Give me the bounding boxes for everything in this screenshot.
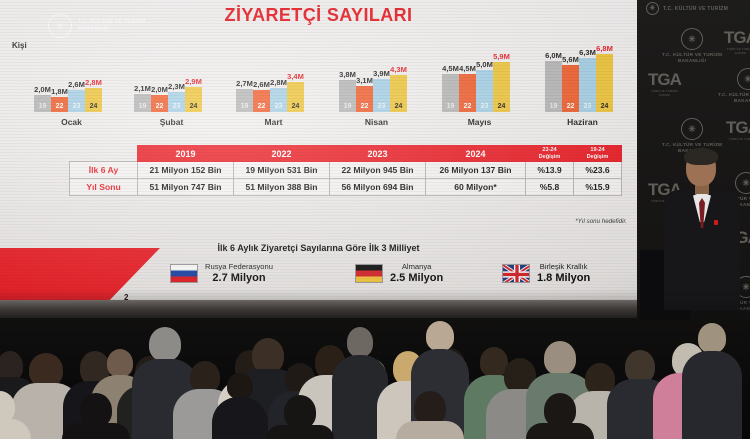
united-kingdom-flag-icon — [502, 264, 530, 283]
bar-value-label: 4,5M — [442, 64, 459, 73]
backdrop-ministry-line2: BAKANLIĞI — [662, 58, 722, 64]
bar-mart-22: 2,6M 22 — [253, 90, 270, 112]
bar-subat-19: 2,1M 19 — [134, 94, 151, 112]
tga-sub2: AJANSI — [648, 94, 681, 98]
cell-change-23-24: %5.8 — [526, 179, 574, 196]
tga-wordmark: TGA — [648, 70, 681, 90]
cell-2023: 56 Milyon 694 Bin — [330, 179, 426, 196]
tga-wordmark: TGA — [726, 118, 750, 138]
backdrop-ministry-line1: T.C. KÜLTÜR VE TURİZM — [662, 52, 722, 58]
nationality-name: Birleşik Krallık — [537, 262, 590, 271]
bar-group-haziran: 6,0M 19 5,6M 22 6,3M 23 — [545, 52, 620, 112]
table-footnote: *Yıl sonu hedefidir. — [227, 218, 627, 225]
bar-value-label: 1,8M — [51, 87, 68, 96]
bar-year-label: 24 — [185, 102, 202, 112]
bar-ocak-22: 1,8M 22 — [51, 97, 68, 112]
ministry-seal-icon: ✳ — [646, 2, 659, 15]
nationality-name: Almanya — [390, 262, 443, 271]
cell-2019: 21 Milyon 152 Bin — [138, 162, 234, 179]
bar-mart-19: 2,7M 19 — [236, 89, 253, 112]
bar-year-label: 22 — [51, 102, 68, 112]
bar-value-label: 6,0M — [545, 51, 562, 60]
bar-value-label: 2,7M — [236, 79, 253, 88]
bar-year-label: 23 — [168, 102, 185, 112]
slide-ministry-logo: ✳ T.C. KÜLTÜR VE TURİZM BAKANLIĞI — [48, 14, 146, 38]
speaker-lapel-pin — [714, 220, 718, 225]
bar-year-label: 24 — [287, 102, 304, 112]
bar-year-label: 19 — [545, 102, 562, 112]
ministry-seal-icon: ✳ — [681, 28, 703, 50]
table-col-2019: 2019 — [138, 146, 234, 162]
nationality-name: Rusya Federasyonu — [205, 262, 273, 271]
bar-year-label: 23 — [270, 102, 287, 112]
backdrop-ministry-line2: BAKANLIĞI — [718, 98, 750, 104]
bar-year-label: 19 — [34, 102, 51, 112]
table-col-change-23-24: 23-24 Değişim — [526, 146, 574, 162]
bar-value-label: 2,0M — [34, 85, 51, 94]
bar-nisan-22: 3,1M 22 — [356, 86, 373, 112]
bar-value-label: 2,3M — [168, 82, 185, 91]
bar-nisan-24: 4,3M 24 — [390, 75, 407, 112]
bar-year-label: 22 — [253, 102, 270, 112]
bar-value-label: 3,4M — [287, 72, 304, 81]
bar-value-label: 4,3M — [390, 65, 407, 74]
nationality-value: 1.8 Milyon — [537, 272, 590, 284]
bar-value-label: 2,8M — [270, 78, 287, 87]
bar-value-label: 3,8M — [339, 70, 356, 79]
bar-year-label: 19 — [134, 102, 151, 112]
bar-group-month-label: Ocak — [34, 117, 109, 127]
projection-screen: ZİYARETÇİ SAYILARI Kişi 2,0M 19 1,8M 22 — [0, 0, 637, 318]
table-row: İlk 6 Ay 21 Milyon 152 Bin 19 Milyon 531… — [70, 162, 622, 179]
change-23-24-line1: 23-24 — [542, 147, 556, 153]
bar-subat-22: 2,0M 22 — [151, 95, 168, 112]
table-header-row: 2019 2022 2023 2024 23-24 Değişim 19-24 … — [70, 146, 622, 162]
bar-year-label: 23 — [579, 102, 596, 112]
backdrop-ministry-line1: T.C. KÜLTÜR VE TURİZM — [662, 142, 722, 148]
bar-year-label: 24 — [390, 102, 407, 112]
backdrop-ministry-line1: T.C. KÜLTÜR VE TURİZM — [718, 92, 750, 98]
bar-group-mart: 2,7M 19 2,6M 22 2,8M 23 — [236, 52, 311, 112]
bar-year-label: 22 — [151, 102, 168, 112]
backdrop-tga-logo: TGA TÜRKİYE TURİZM AJANSI — [648, 70, 681, 98]
bar-year-label: 19 — [236, 102, 253, 112]
tga-wordmark: TGA — [724, 28, 750, 48]
visitor-bar-chart: 2,0M 19 1,8M 22 2,6M 23 — [8, 52, 632, 130]
bar-mayis-23: 5,0M 23 — [476, 70, 493, 112]
audience-area — [0, 289, 750, 439]
bar-nisan-23: 3,9M 23 — [373, 79, 390, 112]
bar-value-label: 3,9M — [373, 69, 390, 78]
bar-mart-23: 2,8M 23 — [270, 88, 287, 112]
cell-2023: 22 Milyon 945 Bin — [330, 162, 426, 179]
bar-value-label: 3,1M — [356, 76, 373, 85]
bar-value-label: 2,6M — [253, 80, 270, 89]
ministry-seal-icon: ✳ — [737, 68, 750, 90]
bar-group-month-label: Haziran — [545, 117, 620, 127]
bar-ocak-23: 2,6M 23 — [68, 90, 85, 112]
nationality-value: 2.5 Milyon — [390, 272, 443, 284]
bar-nisan-19: 3,8M 19 — [339, 80, 356, 112]
bar-haziran-23: 6,3M 23 — [579, 58, 596, 112]
bar-value-label: 4,5M — [459, 64, 476, 73]
change-19-24-line1: 19-24 — [590, 147, 604, 153]
bar-year-label: 19 — [442, 102, 459, 112]
backdrop-tga-logo: TGA TÜRKİYE TURİZM AJANSI — [724, 28, 750, 56]
germany-flag-icon — [355, 264, 383, 283]
bar-mart-24: 3,4M 24 — [287, 82, 304, 112]
table-col-2022: 2022 — [234, 146, 330, 162]
cell-change-23-24: %13.9 — [526, 162, 574, 179]
backdrop-ministry-logo: ✳ T.C. KÜLTÜR VE TURİZM BAKANLIĞI — [662, 28, 722, 64]
bar-group-month-label: Mart — [236, 117, 311, 127]
bar-value-label: 5,9M — [493, 52, 510, 61]
bar-year-label: 24 — [596, 102, 613, 112]
table-row-label-ilk6ay: İlk 6 Ay — [70, 162, 138, 179]
bar-group-month-label: Mayıs — [442, 117, 517, 127]
slide-ministry-line1: T.C. KÜLTÜR VE TURİZM — [78, 19, 146, 26]
tga-sub1: TÜRKİYE TURİZM — [726, 138, 750, 142]
bar-group-subat: 2,1M 19 2,0M 22 2,3M 23 — [134, 52, 209, 112]
cell-2022: 19 Milyon 531 Bin — [234, 162, 330, 179]
change-23-24-line2: Değişim — [539, 154, 561, 160]
tga-sub2: AJANSI — [724, 52, 750, 56]
ministry-seal-icon: ✳ — [48, 14, 72, 38]
bar-value-label: 2,9M — [185, 77, 202, 86]
bar-year-label: 19 — [339, 102, 356, 112]
bar-mayis-22: 4,5M 22 — [459, 74, 476, 112]
bar-value-label: 2,8M — [85, 78, 102, 87]
bar-year-label: 24 — [85, 102, 102, 112]
cell-2024: 26 Milyon 137 Bin — [426, 162, 526, 179]
bar-value-label: 6,8M — [596, 44, 613, 53]
bar-haziran-24: 6,8M 24 — [596, 54, 613, 112]
press-conference-photo: ✳ T.C. KÜLTÜR VE TURİZM ✳ T.C. KÜLTÜR VE… — [0, 0, 750, 439]
bar-year-label: 23 — [68, 102, 85, 112]
speaker-hair — [684, 148, 718, 165]
table-col-change-19-24: 19-24 Değişim — [574, 146, 622, 162]
bar-value-label: 5,6M — [562, 55, 579, 64]
backdrop-tga-logo: TGA TÜRKİYE TURİZM — [726, 118, 750, 142]
bar-ocak-24: 2,8M 24 — [85, 88, 102, 112]
bar-year-label: 24 — [493, 102, 510, 112]
bar-subat-23: 2,3M 23 — [168, 92, 185, 112]
speaker-at-podium — [660, 150, 746, 310]
cell-change-19-24: %15.9 — [574, 179, 622, 196]
bar-year-label: 22 — [356, 102, 373, 112]
bar-ocak-19: 2,0M 19 — [34, 95, 51, 112]
table-row: Yıl Sonu 51 Milyon 747 Bin 51 Milyon 388… — [70, 179, 622, 196]
table-col-2023: 2023 — [330, 146, 426, 162]
bar-haziran-22: 5,6M 22 — [562, 65, 579, 112]
nationality-value: 2.7 Milyon — [205, 272, 273, 284]
backdrop-ministry-logo: ✳ T.C. KÜLTÜR VE TURİZM — [646, 2, 728, 17]
table-col-2024: 2024 — [426, 146, 526, 162]
slide-ministry-line2: BAKANLIĞI — [78, 26, 146, 33]
cell-change-19-24: %23.6 — [574, 162, 622, 179]
cell-2019: 51 Milyon 747 Bin — [138, 179, 234, 196]
bar-mayis-19: 4,5M 19 — [442, 74, 459, 112]
bar-subat-24: 2,9M 24 — [185, 87, 202, 112]
chart-y-axis-label: Kişi — [12, 41, 27, 50]
bar-group-mayis: 4,5M 19 4,5M 22 5,0M 23 — [442, 52, 517, 112]
cell-2024: 60 Milyon* — [426, 179, 526, 196]
bar-group-month-label: Nisan — [339, 117, 414, 127]
bar-value-label: 6,3M — [579, 48, 596, 57]
nationality-item-russia: Rusya Federasyonu 2.7 Milyon — [170, 262, 273, 284]
bar-year-label: 22 — [562, 102, 579, 112]
bar-value-label: 2,6M — [68, 80, 85, 89]
russia-flag-icon — [170, 264, 198, 283]
bar-group-ocak: 2,0M 19 1,8M 22 2,6M 23 — [34, 52, 109, 112]
cell-2022: 51 Milyon 388 Bin — [234, 179, 330, 196]
bar-value-label: 2,0M — [151, 85, 168, 94]
bar-group-nisan: 3,8M 19 3,1M 22 3,9M 23 — [339, 52, 414, 112]
bar-value-label: 5,0M — [476, 60, 493, 69]
backdrop-ministry-text: T.C. KÜLTÜR VE TURİZM — [663, 6, 728, 13]
bar-year-label: 23 — [373, 102, 390, 112]
bar-mayis-24: 5,9M 24 — [493, 62, 510, 112]
bar-haziran-19: 6,0M 19 — [545, 61, 562, 112]
nationality-item-germany: Almanya 2.5 Milyon — [355, 262, 443, 284]
visitor-summary-table: 2019 2022 2023 2024 23-24 Değişim 19-24 … — [69, 145, 621, 196]
bar-year-label: 23 — [476, 102, 493, 112]
change-19-24-line2: Değişim — [587, 154, 609, 160]
table-row-label-yilsonu: Yıl Sonu — [70, 179, 138, 196]
bar-group-month-label: Şubat — [134, 117, 209, 127]
bar-value-label: 2,1M — [134, 84, 151, 93]
ministry-seal-icon: ✳ — [681, 118, 703, 140]
backdrop-ministry-logo: ✳ T.C. KÜLTÜR VE TURİZM BAKANLIĞI — [718, 68, 750, 104]
bar-year-label: 22 — [459, 102, 476, 112]
nationality-item-uk: Birleşik Krallık 1.8 Milyon — [502, 262, 590, 284]
